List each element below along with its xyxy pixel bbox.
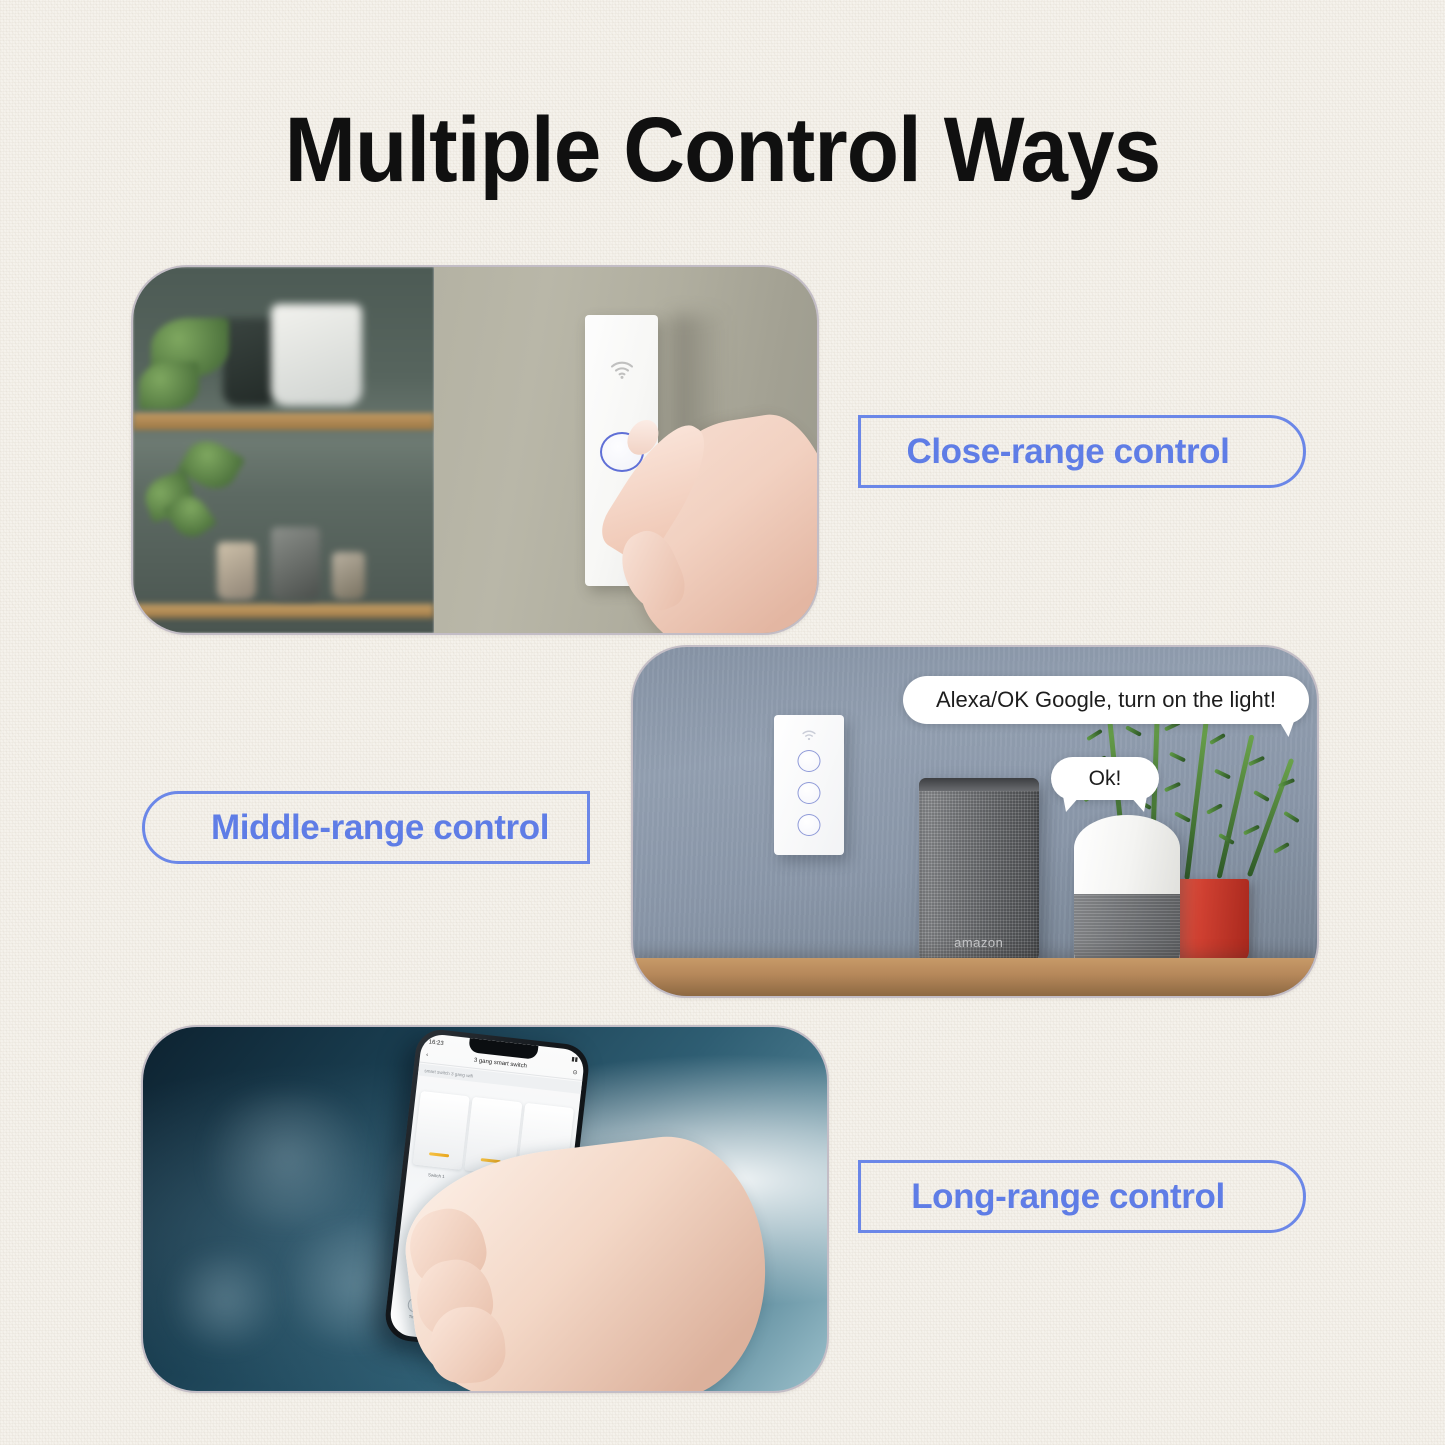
long-range-photo-panel: 16:23 ▮▮ ‹ 3 gang smart switch ⊙ smart s… <box>141 1025 829 1393</box>
switch-card[interactable]: Switch 1 <box>412 1091 470 1170</box>
google-home-speaker[interactable] <box>1074 815 1180 965</box>
wifi-icon <box>802 730 816 741</box>
close-range-photo-panel <box>131 265 819 635</box>
light-haze <box>184 1093 389 1224</box>
plant-needle <box>1209 733 1226 745</box>
wooden-shelf <box>133 413 434 429</box>
plant-needle <box>1086 729 1103 741</box>
light-haze <box>157 1253 294 1348</box>
plant-stem <box>1246 758 1294 878</box>
plant-needle <box>1248 756 1265 767</box>
switch-toggle-indicator[interactable] <box>428 1152 448 1157</box>
jar <box>332 552 365 600</box>
google-home-fabric-base <box>1074 894 1180 965</box>
kitchen-background <box>133 267 434 633</box>
canister <box>271 527 319 600</box>
voice-command-bubble: Alexa/OK Google, turn on the light! <box>903 676 1309 724</box>
three-gang-switch-device[interactable] <box>774 715 844 855</box>
amazon-logo: amazon <box>919 935 1039 950</box>
jar <box>217 542 256 601</box>
back-chevron-left-icon[interactable]: ‹ <box>425 1052 428 1058</box>
white-mug <box>271 304 361 406</box>
app-subtitle: smart switch 3 gang wifi <box>424 1068 473 1078</box>
page-title: Multiple Control Ways <box>51 104 1395 196</box>
bubble-tail-left <box>1063 796 1080 812</box>
assistant-reply-bubble: Ok! <box>1051 757 1159 800</box>
switch-button-2[interactable] <box>797 782 820 804</box>
wifi-icon <box>610 361 634 379</box>
plant-stem <box>1217 734 1255 878</box>
plant-needle <box>1169 751 1186 762</box>
plant-needle <box>1243 825 1260 836</box>
label-long-range-text: Long-range control <box>911 1177 1225 1217</box>
plant-leaf <box>139 362 199 410</box>
voice-command-text: Alexa/OK Google, turn on the light! <box>936 687 1276 713</box>
red-plant-pot <box>1170 879 1249 963</box>
app-title: 3 gang smart switch <box>473 1058 527 1070</box>
label-close-range-control[interactable]: Close-range control <box>858 415 1306 488</box>
plant-needle <box>1125 725 1142 737</box>
plant-needle <box>1273 842 1290 854</box>
amazon-echo-speaker[interactable]: amazon <box>919 778 1039 963</box>
plant-needle <box>1206 803 1223 815</box>
more-icon[interactable]: ⊙ <box>572 1069 578 1077</box>
plant-needle <box>1174 812 1191 824</box>
label-long-range-control[interactable]: Long-range control <box>858 1160 1306 1233</box>
label-middle-range-control[interactable]: Middle-range control <box>142 791 590 864</box>
dark-mug <box>223 318 277 406</box>
bubble-tail <box>1276 720 1295 737</box>
wooden-shelf <box>633 958 1317 996</box>
plant-needle <box>1283 811 1300 823</box>
wooden-counter <box>133 604 434 619</box>
plant-needle <box>1164 782 1181 793</box>
plant-needle <box>1214 769 1231 780</box>
echo-top-ring <box>919 778 1039 791</box>
plant-stem <box>1184 720 1208 880</box>
bubble-tail-right <box>1130 796 1147 812</box>
status-icons: ▮▮ <box>571 1055 578 1063</box>
switch-button-3[interactable] <box>797 814 820 836</box>
label-close-range-text: Close-range control <box>906 432 1229 472</box>
plant-needle <box>1253 790 1270 802</box>
label-middle-range-text: Middle-range control <box>211 808 549 848</box>
wall-surface <box>434 267 817 633</box>
switch-card-label: Switch 1 <box>411 1170 461 1181</box>
switch-button-1[interactable] <box>797 750 820 772</box>
status-time: 16:23 <box>428 1040 444 1048</box>
assistant-reply-text: Ok! <box>1089 767 1122 791</box>
